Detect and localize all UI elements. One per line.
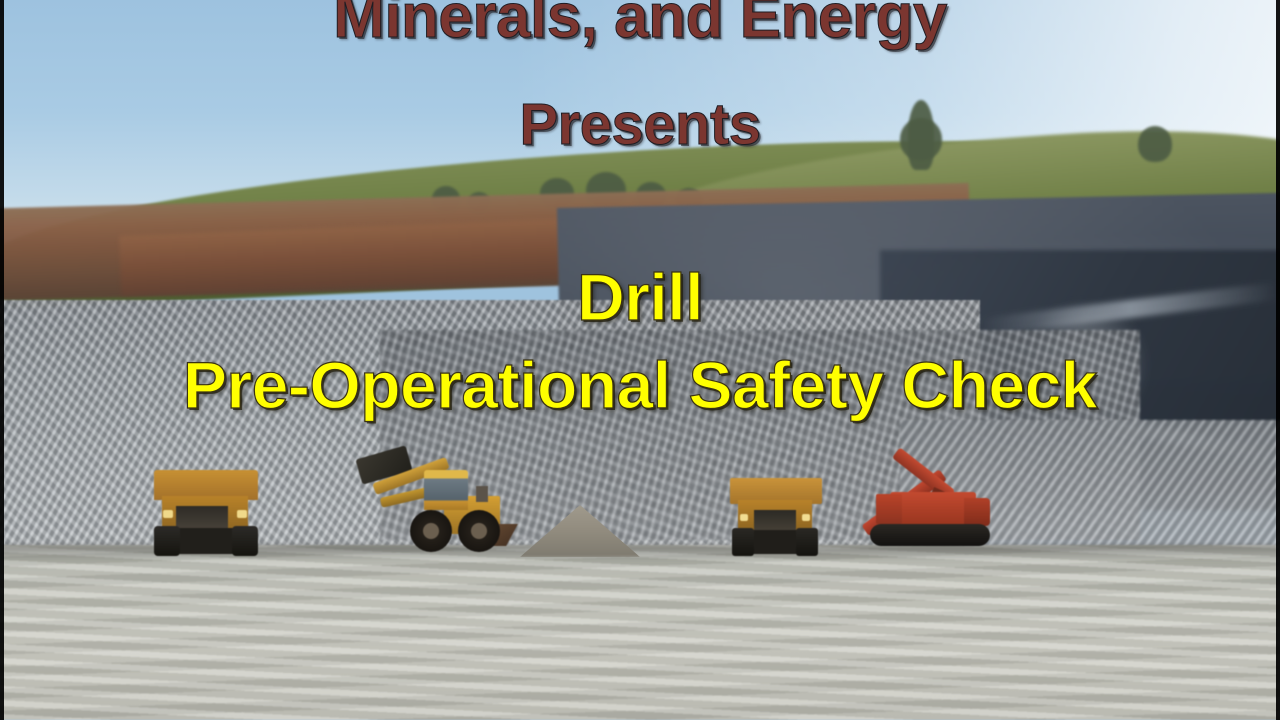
quarry-floor (0, 545, 1280, 720)
excavator-counterweight (964, 498, 990, 526)
truck-lower-body (748, 530, 802, 554)
loader-wheel (410, 510, 452, 552)
truck-tire (154, 526, 180, 556)
loader-cab (424, 470, 468, 510)
truck-lower-body (172, 528, 240, 554)
wheel-loader (358, 448, 502, 558)
haul-truck-left (146, 470, 266, 556)
loader-exhaust-stack (476, 486, 488, 502)
truck-tire (232, 526, 258, 556)
tracked-excavator (852, 440, 1002, 558)
truck-tire (732, 528, 754, 556)
loader-wheel (458, 510, 500, 552)
excavator-cab (876, 494, 902, 524)
title-line-secondary: Pre-Operational Safety Check (0, 352, 1280, 418)
truck-headlight (237, 510, 247, 518)
haul-truck-right (728, 478, 822, 556)
letterbox-edge-right (1276, 0, 1280, 720)
truck-headlight (163, 510, 173, 518)
truck-tire (796, 528, 818, 556)
title-slide: Minerals, and Energy Presents Drill Pre-… (0, 0, 1280, 720)
truck-headlight (740, 514, 748, 521)
title-line-primary: Drill (0, 264, 1280, 330)
truck-grille (754, 510, 796, 532)
excavator-track (870, 524, 990, 546)
truck-headlight (802, 514, 810, 521)
organization-heading: Minerals, and Energy (0, 0, 1280, 48)
presents-heading: Presents (0, 96, 1280, 154)
letterbox-edge-left (0, 0, 4, 720)
